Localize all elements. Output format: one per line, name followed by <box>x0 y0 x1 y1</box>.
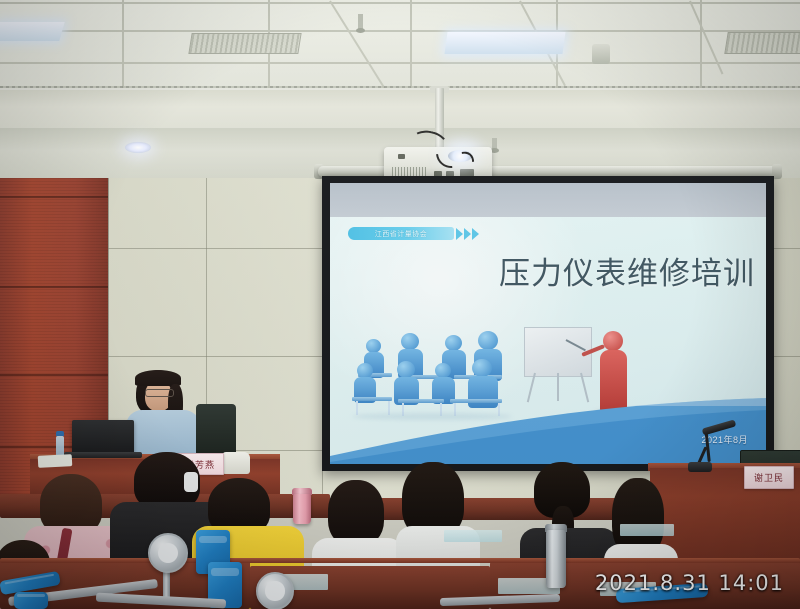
microphone-base <box>688 462 712 472</box>
sprinkler-head <box>358 14 363 30</box>
bench-rail <box>0 558 800 563</box>
camera-timestamp: 2021.8.31 14:01 <box>595 571 784 595</box>
pink-travel-mug <box>293 494 311 524</box>
presenter-glasses <box>145 389 174 397</box>
chevron-right-icon <box>456 228 463 240</box>
ceiling-light-panel <box>444 32 565 54</box>
ceiling-air-vent <box>724 32 800 54</box>
tissue-box <box>222 452 250 474</box>
slide-org-banner-text: 江西省计量协会 <box>375 229 428 239</box>
ceiling-air-vent <box>188 33 301 54</box>
chevron-right-icon <box>472 228 479 240</box>
chevron-right-icon <box>464 228 471 240</box>
ceiling <box>0 0 800 96</box>
podium-nameplate-text: 谢卫民 <box>754 471 784 484</box>
stainless-thermos <box>546 530 566 588</box>
ceiling-light-panel <box>0 22 65 41</box>
slide-org-banner: 江西省计量协会 <box>348 227 454 240</box>
bench-desk-panel <box>620 524 674 536</box>
sprinkler-head <box>492 138 497 150</box>
presenter-laptop <box>72 420 134 454</box>
presenter-laptop-base <box>64 452 142 458</box>
smoke-detector <box>592 44 610 64</box>
podium-nameplate: 谢卫民 <box>744 466 794 489</box>
recessed-downlight <box>125 142 151 153</box>
slide-title: 压力仪表维修培训 <box>475 259 755 290</box>
presenter-chair <box>196 404 236 458</box>
blue-instrument-case <box>14 592 48 609</box>
water-bottle-cap <box>56 431 64 436</box>
bench-desk-panel <box>444 530 502 542</box>
pressure-gauge <box>148 533 188 573</box>
screen-blank-band <box>330 183 766 217</box>
pressure-gauge <box>256 572 294 609</box>
desk-papers <box>38 454 73 468</box>
photograph: 江西省计量协会 压力仪表维修培训 <box>0 0 800 609</box>
face-mask <box>184 472 198 492</box>
presentation-slide: 江西省计量协会 压力仪表维修培训 <box>330 217 766 464</box>
projection-screen: 江西省计量协会 压力仪表维修培训 <box>330 183 766 464</box>
